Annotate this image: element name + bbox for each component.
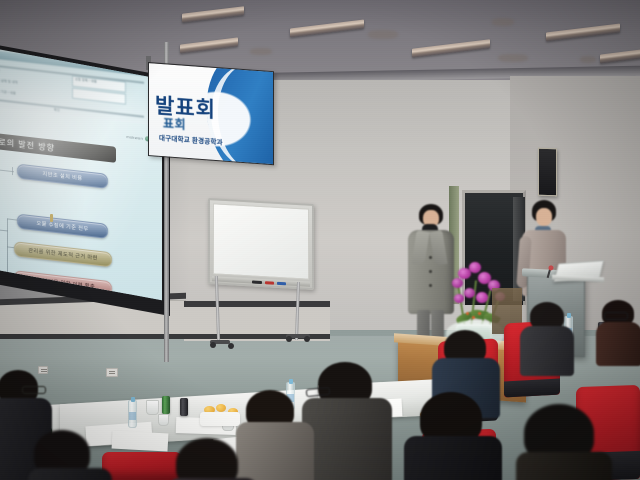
orchid-bloom <box>476 292 488 303</box>
coat-button <box>429 284 432 287</box>
coat-button <box>429 270 432 273</box>
audience-member <box>302 362 388 480</box>
flower-berry <box>478 312 481 315</box>
audience-torso <box>520 326 574 376</box>
window-footer-button[interactable]: 확인 <box>54 109 60 113</box>
whiteboard-caster-icon <box>228 343 234 349</box>
ceiling-stain <box>250 48 272 55</box>
marker-red-icon[interactable] <box>265 281 274 285</box>
audience-member <box>516 404 608 480</box>
audience-member <box>28 430 108 480</box>
audience-member <box>596 300 640 364</box>
audience-hair <box>176 438 238 480</box>
orchid-bloom <box>469 262 481 273</box>
paper-cup[interactable] <box>158 414 169 426</box>
whiteboard-leg <box>215 276 220 342</box>
seat-trim <box>504 379 560 398</box>
taskbar-window-button[interactable] <box>12 305 36 308</box>
orchid-bloom <box>464 288 475 298</box>
whiteboard-caster-icon <box>304 336 310 342</box>
slide-logo-text: mokwon <box>126 134 143 141</box>
flower-berry <box>472 316 475 319</box>
slide-connector <box>12 167 13 175</box>
whiteboard-leg <box>295 282 300 340</box>
whiteboard-surface[interactable] <box>213 203 309 279</box>
whiteboard-caster-icon <box>286 336 292 342</box>
power-outlet-icon <box>106 368 118 377</box>
audience-torso <box>516 452 612 480</box>
flower-berry <box>466 312 469 315</box>
orchid-bloom <box>452 278 463 288</box>
eyeglasses-icon <box>604 312 628 320</box>
snack-item <box>216 404 226 412</box>
audience-member <box>168 438 254 480</box>
window-row-label-3: 담당 기관 / 내용 <box>0 90 16 95</box>
marker-blue-icon[interactable] <box>277 281 286 285</box>
handout-paper[interactable] <box>112 431 169 452</box>
audience-member <box>520 302 574 372</box>
marker-black-icon[interactable] <box>252 280 262 284</box>
slide-bullet-1: 지반조 설치 비용 <box>17 164 108 189</box>
bottle-label <box>129 412 136 420</box>
snack-plate <box>200 412 240 426</box>
audience-torso <box>404 436 502 480</box>
wall-speaker <box>538 148 557 197</box>
eyeglasses-icon <box>22 386 46 394</box>
door-handle-icon[interactable] <box>50 214 53 222</box>
slide-bullet-2: 오물 수질에 기준 전무 <box>17 214 108 239</box>
ceiling-stain <box>498 54 528 62</box>
orchid-bloom <box>454 294 464 303</box>
audience-torso <box>596 322 640 366</box>
taskbar-start-button[interactable] <box>0 303 10 308</box>
ceiling-stain <box>580 56 596 63</box>
whiteboard-frame <box>208 198 314 290</box>
lecture-hall-photo: 항목 처리 상태 및 내역 담당 기관 / 내용 신청 항목 / 내용 확인 m… <box>0 0 640 480</box>
audience-member <box>404 392 500 480</box>
window-row-label-2: 처리 상태 및 내역 <box>0 79 18 85</box>
screen-surface: 항목 처리 상태 및 내역 담당 기관 / 내용 신청 항목 / 내용 확인 m… <box>0 48 162 308</box>
mobile-whiteboard[interactable] <box>208 198 312 348</box>
event-banner: 발표회 표회 대구대학교 환경공학과 <box>148 62 274 165</box>
slide-title: 으로의 발전 방향 <box>0 134 132 162</box>
ceiling-stain <box>368 30 398 39</box>
water-bottle[interactable] <box>128 400 137 428</box>
slide-bullet-3: 관리를 위한 제도적 근거 마련 <box>14 241 112 267</box>
whiteboard-caster-icon <box>210 342 216 348</box>
paper-cup[interactable] <box>146 400 159 415</box>
audience-torso <box>302 398 392 480</box>
beverage-can[interactable] <box>180 398 188 416</box>
coat-button <box>429 256 432 259</box>
audience-torso <box>28 468 112 480</box>
banner-subtitle: 표회 <box>163 114 186 133</box>
ceiling-stain <box>492 18 514 26</box>
slide-logo: mokwon <box>126 134 150 142</box>
beverage-can[interactable] <box>162 396 170 414</box>
speaker-face <box>536 208 552 226</box>
